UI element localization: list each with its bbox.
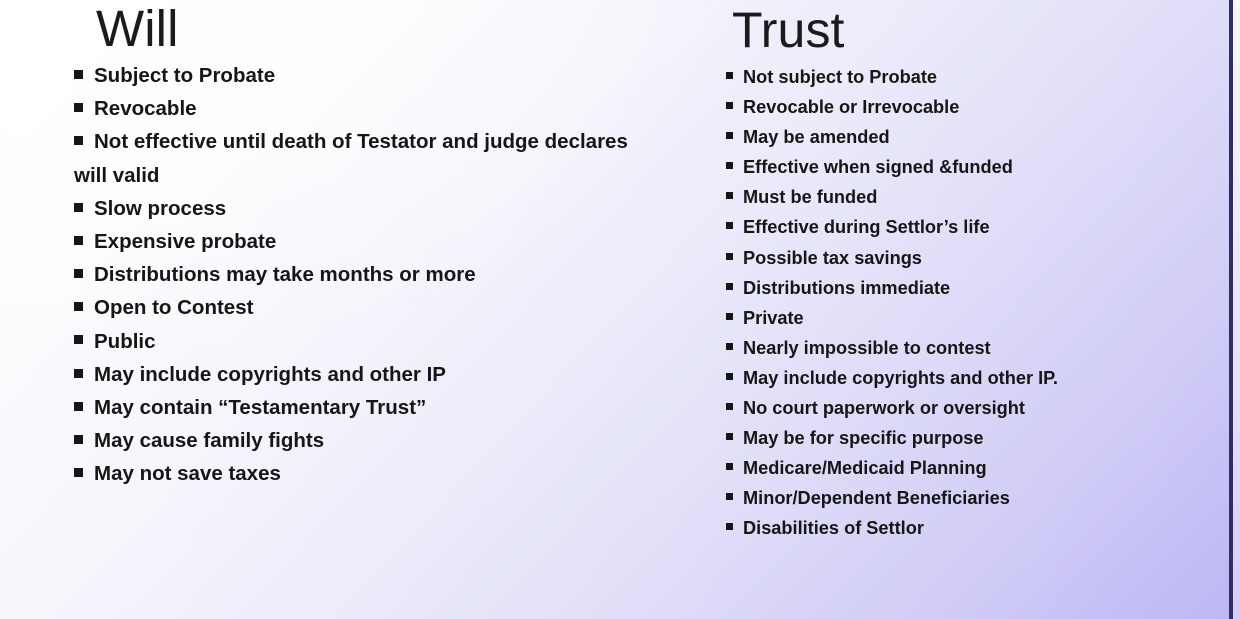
square-bullet-icon <box>726 403 733 410</box>
list-item-label: May include copyrights and other IP <box>94 363 446 386</box>
list-item-label: Expensive probate <box>94 230 276 253</box>
list-item: May contain “Testamentary Trust” <box>74 391 634 424</box>
list-item-label: Nearly impossible to contest <box>743 338 991 358</box>
list-item: Revocable <box>74 92 634 125</box>
list-item-label: Disabilities of Settlor <box>743 518 924 538</box>
list-item-label: Open to Contest <box>94 296 253 319</box>
square-bullet-icon <box>74 335 83 344</box>
trust-column-title: Trust <box>732 0 1226 58</box>
square-bullet-icon <box>726 523 733 530</box>
list-item: May be for specific purpose <box>726 423 1226 453</box>
will-column-title: Will <box>96 0 634 57</box>
square-bullet-icon <box>74 435 83 444</box>
square-bullet-icon <box>74 70 83 79</box>
square-bullet-icon <box>726 102 733 109</box>
square-bullet-icon <box>74 136 83 145</box>
list-item: Minor/Dependent Beneficiaries <box>726 483 1226 513</box>
list-item-label: May include copyrights and other IP. <box>743 368 1058 388</box>
square-bullet-icon <box>726 162 733 169</box>
list-item-label: Private <box>743 308 804 328</box>
slide-content: Will Subject to ProbateRevocableNot effe… <box>0 0 1240 619</box>
will-bullet-list: Subject to ProbateRevocableNot effective… <box>74 59 634 491</box>
comparison-slide: Will Subject to ProbateRevocableNot effe… <box>0 0 1240 619</box>
square-bullet-icon <box>74 369 83 378</box>
list-item: Must be funded <box>726 182 1226 212</box>
list-item-label: No court paperwork or oversight <box>743 398 1025 418</box>
list-item-label: Not subject to Probate <box>743 67 937 87</box>
list-item-label: Not effective until death of Testator an… <box>74 130 628 186</box>
list-item: Medicare/Medicaid Planning <box>726 453 1226 483</box>
list-item: May include copyrights and other IP <box>74 358 634 391</box>
list-item: Disabilities of Settlor <box>726 513 1226 543</box>
square-bullet-icon <box>726 192 733 199</box>
list-item: Nearly impossible to contest <box>726 333 1226 363</box>
square-bullet-icon <box>74 203 83 212</box>
list-item-label: Distributions immediate <box>743 278 950 298</box>
will-column: Will Subject to ProbateRevocableNot effe… <box>74 0 634 491</box>
list-item: Revocable or Irrevocable <box>726 92 1226 122</box>
square-bullet-icon <box>726 253 733 260</box>
list-item-label: Slow process <box>94 197 226 220</box>
list-item: May cause family fights <box>74 424 634 457</box>
list-item: May be amended <box>726 122 1226 152</box>
list-item: Distributions may take months or more <box>74 258 634 291</box>
list-item: Subject to Probate <box>74 59 634 92</box>
square-bullet-icon <box>726 222 733 229</box>
square-bullet-icon <box>74 302 83 311</box>
list-item-label: May be for specific purpose <box>743 428 984 448</box>
square-bullet-icon <box>74 103 83 112</box>
list-item: Not subject to Probate <box>726 62 1226 92</box>
list-item-label: Effective during Settlor’s life <box>743 217 990 237</box>
list-item-label: Minor/Dependent Beneficiaries <box>743 488 1010 508</box>
list-item-label: Revocable <box>94 97 197 120</box>
list-item: Effective during Settlor’s life <box>726 212 1226 242</box>
list-item-label: Public <box>94 330 156 353</box>
list-item: May not save taxes <box>74 457 634 490</box>
list-item: Open to Contest <box>74 291 634 324</box>
trust-bullet-list: Not subject to ProbateRevocable or Irrev… <box>726 62 1226 544</box>
list-item-label: May cause family fights <box>94 429 324 452</box>
square-bullet-icon <box>726 72 733 79</box>
list-item: Possible tax savings <box>726 243 1226 273</box>
square-bullet-icon <box>726 493 733 500</box>
square-bullet-icon <box>726 463 733 470</box>
square-bullet-icon <box>726 313 733 320</box>
list-item: May include copyrights and other IP. <box>726 363 1226 393</box>
list-item: Distributions immediate <box>726 273 1226 303</box>
square-bullet-icon <box>726 132 733 139</box>
list-item-label: Subject to Probate <box>94 64 275 87</box>
square-bullet-icon <box>74 402 83 411</box>
trust-column: Trust Not subject to ProbateRevocable or… <box>726 0 1226 544</box>
list-item: Slow process <box>74 192 634 225</box>
square-bullet-icon <box>726 283 733 290</box>
list-item-label: May be amended <box>743 127 890 147</box>
list-item: Effective when signed &funded <box>726 152 1226 182</box>
square-bullet-icon <box>726 433 733 440</box>
list-item-label: Distributions may take months or more <box>94 263 476 286</box>
square-bullet-icon <box>74 269 83 278</box>
list-item: No court paperwork or oversight <box>726 393 1226 423</box>
list-item: Expensive probate <box>74 225 634 258</box>
square-bullet-icon <box>74 236 83 245</box>
square-bullet-icon <box>726 343 733 350</box>
list-item-label: Medicare/Medicaid Planning <box>743 458 987 478</box>
list-item: Public <box>74 325 634 358</box>
square-bullet-icon <box>726 373 733 380</box>
list-item-label: Possible tax savings <box>743 248 922 268</box>
list-item-label: May not save taxes <box>94 462 281 485</box>
list-item-label: Revocable or Irrevocable <box>743 97 959 117</box>
list-item: Not effective until death of Testator an… <box>74 125 634 191</box>
list-item-label: May contain “Testamentary Trust” <box>94 396 426 419</box>
list-item: Private <box>726 303 1226 333</box>
list-item-label: Effective when signed &funded <box>743 157 1013 177</box>
list-item-label: Must be funded <box>743 187 877 207</box>
square-bullet-icon <box>74 468 83 477</box>
